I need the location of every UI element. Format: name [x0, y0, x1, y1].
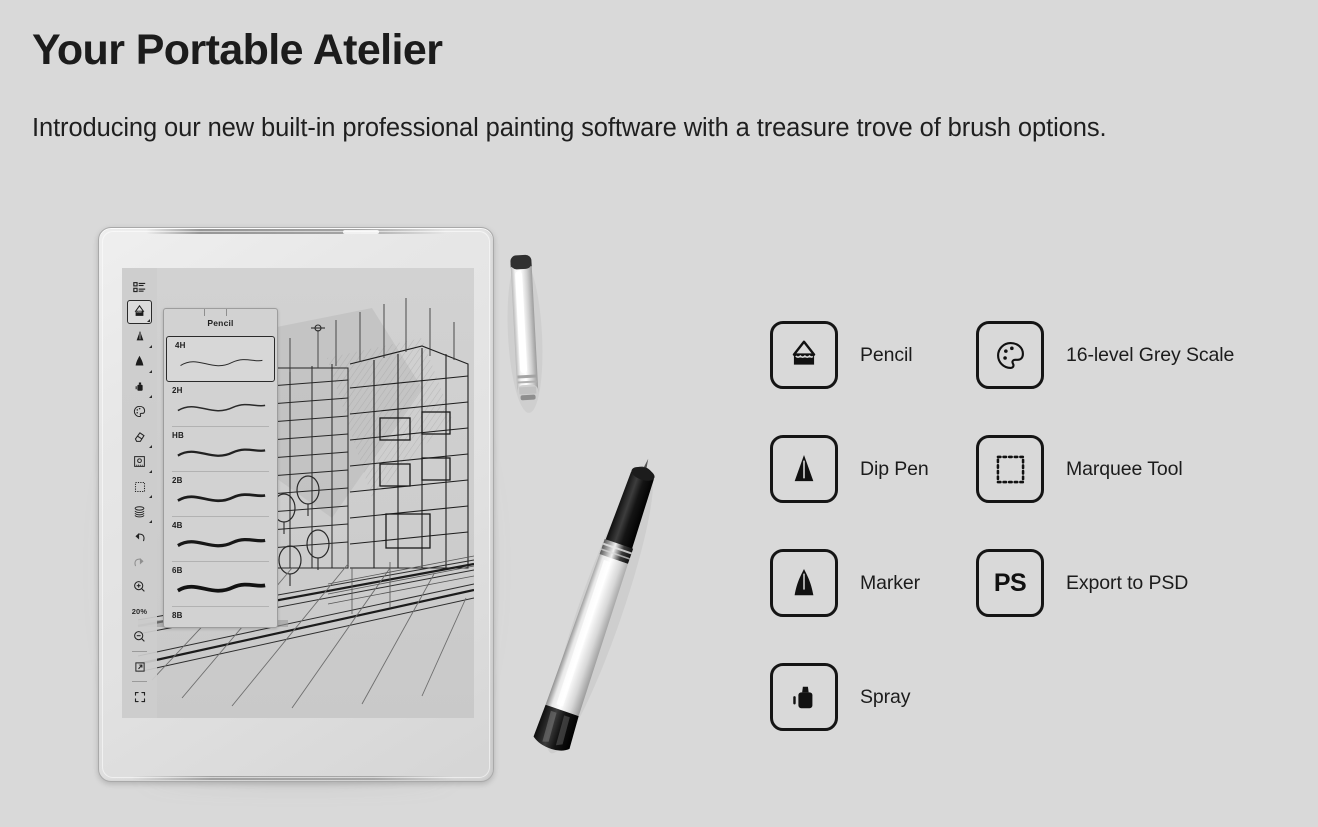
brush-option-6b[interactable]: 6B: [164, 562, 277, 606]
tool-expand-corner: [149, 370, 152, 373]
tablet-body: 20%: [98, 227, 494, 782]
brush-option-8b[interactable]: 8B: [164, 607, 277, 628]
ps-icon-text: PS: [994, 569, 1026, 598]
promo-page: Your Portable Atelier Introducing our ne…: [0, 0, 1318, 827]
lasso-select-icon[interactable]: [127, 449, 153, 474]
brush-stroke-preview: [172, 395, 270, 422]
feature-label: Spray: [860, 686, 910, 709]
feature-label: 16-level Grey Scale: [1066, 344, 1234, 367]
spray-icon[interactable]: [770, 663, 838, 731]
tool-expand-corner: [149, 520, 152, 523]
marker-tool-icon[interactable]: [127, 349, 153, 374]
redo-icon[interactable]: [127, 549, 153, 574]
feature-dip-pen[interactable]: Dip Pen: [770, 412, 976, 526]
tool-expand-corner: [149, 345, 152, 348]
feature-label: Dip Pen: [860, 458, 929, 481]
brush-stroke-preview: [172, 620, 270, 628]
palette-icon[interactable]: [127, 399, 153, 424]
brush-stroke-preview: [172, 440, 270, 467]
tablet-bottom-edge: [131, 776, 454, 780]
canvas-toolbar[interactable]: 20%: [122, 268, 157, 718]
tablet-screen[interactable]: 20%: [122, 268, 474, 718]
page-subtitle: Introducing our new built-in professiona…: [32, 108, 1222, 149]
export-icon[interactable]: [127, 654, 153, 679]
brush-label: 6B: [172, 566, 270, 575]
feature-label: Pencil: [860, 344, 913, 367]
marquee-icon[interactable]: [127, 474, 153, 499]
brush-option-4b[interactable]: 4B: [164, 517, 277, 561]
marker-icon[interactable]: [770, 549, 838, 617]
spray-tool-icon[interactable]: [127, 374, 153, 399]
tool-expand-corner: [149, 395, 152, 398]
brush-option-4h[interactable]: 4H: [166, 336, 275, 382]
toolbar-divider: [132, 681, 147, 682]
tool-expand-corner: [147, 319, 150, 322]
panel-tick-left: [204, 308, 205, 316]
eraser-icon[interactable]: [127, 424, 153, 449]
e-ink-tablet: 20%: [98, 227, 494, 782]
zoom-percent-label: 20%: [127, 599, 153, 624]
panel-tick-right: [226, 308, 227, 316]
brush-label: HB: [172, 431, 270, 440]
tool-expand-corner: [149, 495, 152, 498]
layers-list-icon[interactable]: [127, 275, 153, 300]
undo-icon[interactable]: [127, 524, 153, 549]
palette-icon[interactable]: [976, 321, 1044, 389]
zoom-out-icon[interactable]: [127, 624, 153, 649]
pencil-icon[interactable]: [770, 321, 838, 389]
panel-connector: [163, 336, 164, 337]
toolbar-divider: [132, 651, 147, 652]
product-photo: 20%: [70, 205, 710, 805]
brush-label: 2H: [172, 386, 270, 395]
stylus-pen: [540, 445, 660, 765]
dip-pen-tool-icon[interactable]: [127, 324, 153, 349]
brush-label: 8B: [172, 611, 270, 620]
feature-pencil[interactable]: Pencil: [770, 298, 976, 412]
tablet-top-edge: [146, 229, 445, 234]
page-title: Your Portable Atelier: [32, 26, 442, 74]
brush-stroke-preview: [172, 530, 270, 557]
brush-label: 4H: [175, 341, 267, 350]
layers-stack-icon[interactable]: [127, 499, 153, 524]
marquee-tool-icon[interactable]: [976, 435, 1044, 503]
feature-grid: Pencil 16-level Grey Scale Dip Pen: [770, 298, 1234, 754]
tool-expand-corner: [149, 470, 152, 473]
brush-option-2b[interactable]: 2B: [164, 472, 277, 516]
brush-label: 2B: [172, 476, 270, 485]
brush-label: 4B: [172, 521, 270, 530]
brush-panel-title: Pencil: [164, 309, 277, 336]
zoom-level-text: 20%: [132, 607, 148, 616]
tablet-top-notch: [343, 230, 379, 234]
tool-expand-corner: [149, 445, 152, 448]
stylus-cap: [507, 245, 543, 413]
feature-grey-scale[interactable]: 16-level Grey Scale: [976, 298, 1234, 412]
brush-panel[interactable]: Pencil 4H 2H: [163, 308, 278, 628]
fullscreen-icon[interactable]: [127, 684, 153, 709]
feature-label: Export to PSD: [1066, 572, 1188, 595]
feature-marker[interactable]: Marker: [770, 526, 976, 640]
feature-spray[interactable]: Spray: [770, 640, 976, 754]
feature-label: Marker: [860, 572, 920, 595]
ps-icon[interactable]: PS: [976, 549, 1044, 617]
pencil-tool-icon[interactable]: [127, 300, 152, 324]
brush-stroke-preview: [172, 575, 270, 602]
brush-option-hb[interactable]: HB: [164, 427, 277, 471]
dip-pen-icon[interactable]: [770, 435, 838, 503]
feature-marquee-tool[interactable]: Marquee Tool: [976, 412, 1234, 526]
brush-stroke-preview: [175, 350, 267, 377]
feature-export-psd[interactable]: PS Export to PSD: [976, 526, 1234, 640]
brush-stroke-preview: [172, 485, 270, 512]
zoom-in-icon[interactable]: [127, 574, 153, 599]
brush-option-2h[interactable]: 2H: [164, 382, 277, 426]
feature-label: Marquee Tool: [1066, 458, 1183, 481]
